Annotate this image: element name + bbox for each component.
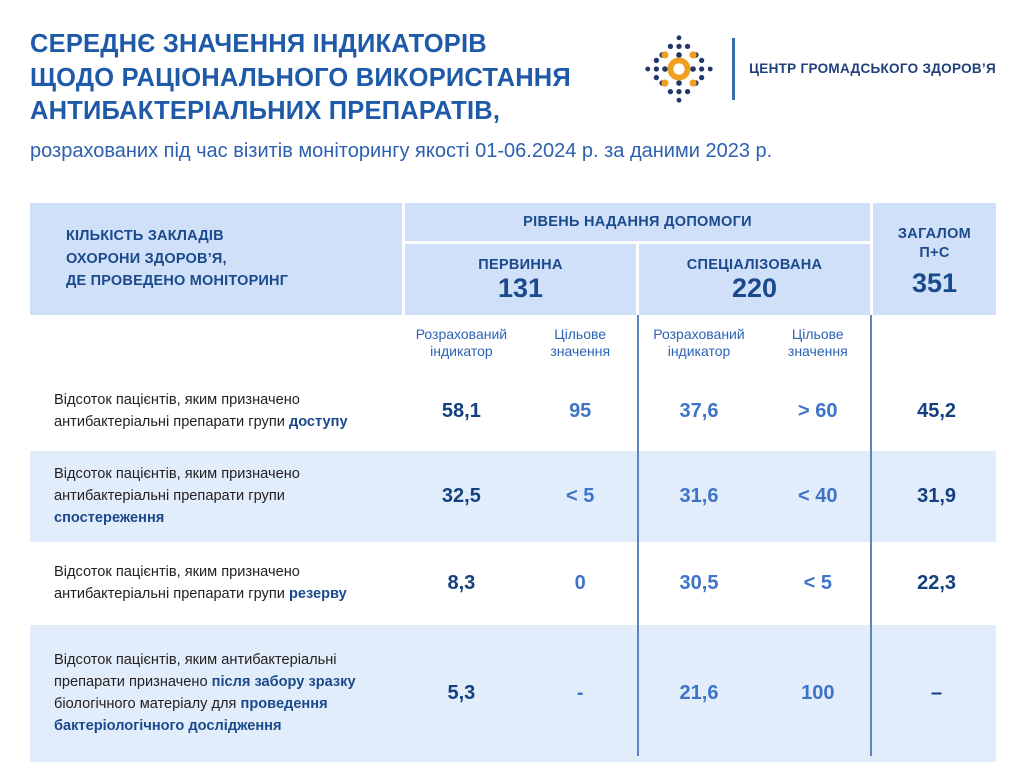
subheader-specialized-target: Цільове значення xyxy=(758,315,877,371)
level-specialized-count: 220 xyxy=(732,275,777,302)
total-label-line-2: П+С xyxy=(898,244,971,263)
row-specialized-indicator: 30,5 xyxy=(640,542,759,625)
row-specialized-target: > 60 xyxy=(758,371,877,451)
subheader-spacer xyxy=(30,315,402,371)
row-primary-indicator: 32,5 xyxy=(402,451,521,542)
table-corner-cell: КІЛЬКІСТЬ ЗАКЛАДІВ ОХОРОНИ ЗДОРОВ’Я, ДЕ … xyxy=(30,203,402,315)
row-label: Відсоток пацієнтів, яким призначено анти… xyxy=(54,561,384,605)
subheader-primary-target: Цільове значення xyxy=(521,315,640,371)
total-label-line-1: ЗАГАЛОМ xyxy=(898,225,971,244)
subheader-specialized-indicator: Розрахований індикатор xyxy=(640,315,759,371)
logo-wordmark: ЦЕНТР ГРОМАДСЬКОГО ЗДОРОВ’Я xyxy=(749,60,996,78)
row-label-cell: Відсоток пацієнтів, яким призначено анти… xyxy=(30,371,402,451)
divider-total-column xyxy=(870,315,872,756)
row-total: 31,9 xyxy=(877,451,996,542)
indicators-table: КІЛЬКІСТЬ ЗАКЛАДІВ ОХОРОНИ ЗДОРОВ’Я, ДЕ … xyxy=(30,203,996,762)
row-specialized-indicator: 37,6 xyxy=(640,371,759,451)
row-primary-target: - xyxy=(521,625,640,762)
table-body: Відсоток пацієнтів, яким призначено анти… xyxy=(30,371,996,762)
row-specialized-target: 100 xyxy=(758,625,877,762)
total-column-header: ЗАГАЛОМ П+С 351 xyxy=(873,203,996,315)
corner-title-line-1: КІЛЬКІСТЬ ЗАКЛАДІВ xyxy=(66,225,288,247)
subheader-primary-target-line-1: Цільове xyxy=(550,326,610,344)
total-count: 351 xyxy=(912,270,957,297)
corner-title-line-3: ДЕ ПРОВЕДЕНО МОНІТОРИНГ xyxy=(66,270,288,292)
row-total: 22,3 xyxy=(877,542,996,625)
row-label: Відсоток пацієнтів, яким антибактеріальн… xyxy=(54,649,384,738)
row-specialized-target: < 40 xyxy=(758,451,877,542)
row-specialized-indicator: 31,6 xyxy=(640,451,759,542)
table-row: Відсоток пацієнтів, яким антибактеріальн… xyxy=(30,625,996,762)
row-primary-target: 95 xyxy=(521,371,640,451)
subheader-primary-indicator: Розрахований індикатор xyxy=(402,315,521,371)
table-row: Відсоток пацієнтів, яким призначено анти… xyxy=(30,451,996,542)
level-specialized-name: СПЕЦІАЛІЗОВАНА xyxy=(687,257,823,273)
logo-line-2: ГРОМАДСЬКОГО xyxy=(801,61,919,76)
logo-line-3: ЗДОРОВ’Я xyxy=(922,61,996,76)
row-specialized-target: < 5 xyxy=(758,542,877,625)
row-label: Відсоток пацієнтів, яким призначено анти… xyxy=(54,463,384,530)
row-label: Відсоток пацієнтів, яким призначено анти… xyxy=(54,389,384,433)
level-primary-count: 131 xyxy=(498,275,543,302)
care-level-group-header: РІВЕНЬ НАДАННЯ ДОПОМОГИ xyxy=(405,203,870,241)
care-level-group: РІВЕНЬ НАДАННЯ ДОПОМОГИ ПЕРВИННА 131 СПЕ… xyxy=(405,203,870,315)
page-subtitle: розрахованих під час візитів моніторингу… xyxy=(30,138,770,164)
corner-title-line-2: ОХОРОНИ ЗДОРОВ’Я, xyxy=(66,248,288,270)
infographic-page: СЕРЕДНЄ ЗНАЧЕННЯ ІНДИКАТОРІВ ЩОДО РАЦІОН… xyxy=(0,0,1024,781)
row-primary-indicator: 8,3 xyxy=(402,542,521,625)
table-header-band: КІЛЬКІСТЬ ЗАКЛАДІВ ОХОРОНИ ЗДОРОВ’Я, ДЕ … xyxy=(30,203,996,315)
level-primary-header: ПЕРВИННА 131 xyxy=(405,244,636,315)
logo-divider xyxy=(732,38,735,100)
row-primary-target: < 5 xyxy=(521,451,640,542)
subheader-specialized-indicator-line-2: індикатор xyxy=(653,343,744,361)
logo-line-1: ЦЕНТР xyxy=(749,61,796,76)
table-row: Відсоток пацієнтів, яким призначено анти… xyxy=(30,371,996,451)
table-row: Відсоток пацієнтів, яким призначено анти… xyxy=(30,542,996,625)
subheader-primary-indicator-line-2: індикатор xyxy=(416,343,507,361)
subheader-specialized-target-line-1: Цільове xyxy=(788,326,848,344)
subheader-primary-target-line-2: значення xyxy=(550,343,610,361)
page-header: СЕРЕДНЄ ЗНАЧЕННЯ ІНДИКАТОРІВ ЩОДО РАЦІОН… xyxy=(0,0,1024,160)
organization-logo: ЦЕНТР ГРОМАДСЬКОГО ЗДОРОВ’Я xyxy=(640,30,996,108)
subheader-specialized-target-line-2: значення xyxy=(788,343,848,361)
row-primary-indicator: 58,1 xyxy=(402,371,521,451)
subheader-total-spacer xyxy=(877,315,996,371)
row-specialized-indicator: 21,6 xyxy=(640,625,759,762)
row-total: – xyxy=(877,625,996,762)
table-subheader-row: Розрахований індикатор Цільове значення … xyxy=(30,315,996,371)
row-total: 45,2 xyxy=(877,371,996,451)
subheader-specialized-indicator-line-1: Розрахований xyxy=(653,326,744,344)
level-primary-name: ПЕРВИННА xyxy=(478,257,562,273)
subheader-primary-indicator-line-1: Розрахований xyxy=(416,326,507,344)
level-specialized-header: СПЕЦІАЛІЗОВАНА 220 xyxy=(639,244,870,315)
row-label-cell: Відсоток пацієнтів, яким призначено анти… xyxy=(30,451,402,542)
row-primary-target: 0 xyxy=(521,542,640,625)
row-label-cell: Відсоток пацієнтів, яким призначено анти… xyxy=(30,542,402,625)
divider-primary-specialized xyxy=(637,315,639,756)
row-label-cell: Відсоток пацієнтів, яким антибактеріальн… xyxy=(30,625,402,762)
row-primary-indicator: 5,3 xyxy=(402,625,521,762)
dot-mandala-icon xyxy=(640,30,718,108)
